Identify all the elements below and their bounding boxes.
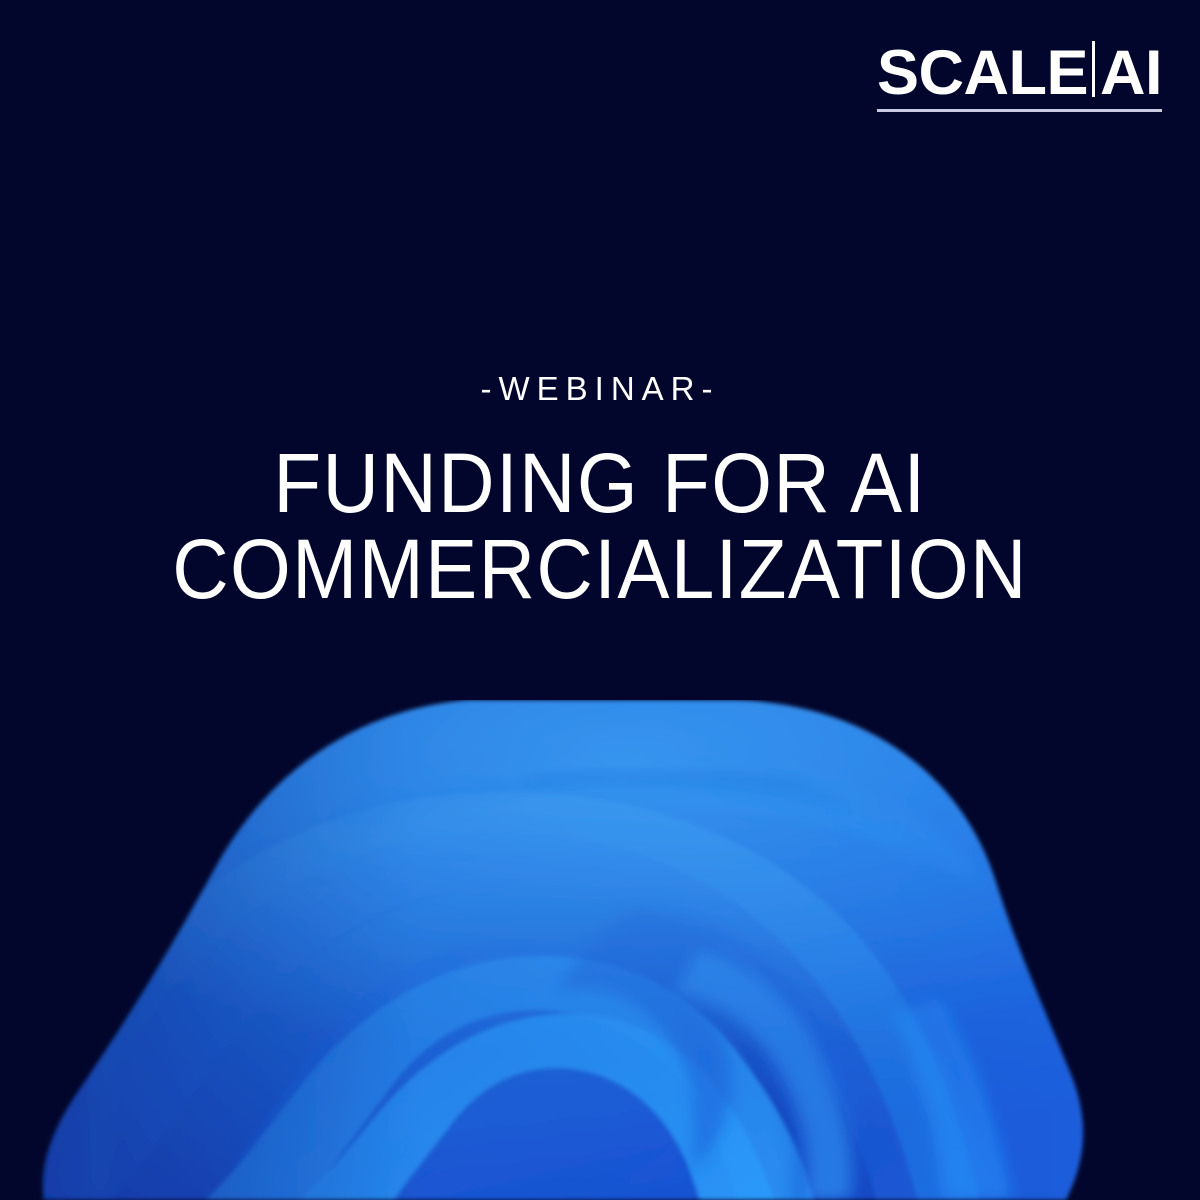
logo-text-ai: AI: [1100, 44, 1162, 104]
title-block: -WEBINAR- FUNDING FOR AI COMMERCIALIZATI…: [0, 372, 1200, 612]
logo-wordmark: SCALE AI: [877, 38, 1162, 104]
logo-divider-icon: [1092, 41, 1095, 97]
logo-text-scale: SCALE: [877, 44, 1088, 104]
webinar-promo-poster: SCALE AI -WEBINAR- FUNDING FOR AI COMMER…: [0, 0, 1200, 1200]
scale-ai-logo[interactable]: SCALE AI: [877, 38, 1162, 112]
eyebrow-label: -WEBINAR-: [0, 372, 1200, 405]
abstract-bloom-graphic: [0, 700, 1200, 1200]
logo-underline: [877, 109, 1162, 112]
page-title-line-1: FUNDING FOR AI: [42, 441, 1158, 527]
page-title: FUNDING FOR AI COMMERCIALIZATION: [42, 441, 1158, 612]
page-title-line-2: COMMERCIALIZATION: [42, 527, 1158, 613]
